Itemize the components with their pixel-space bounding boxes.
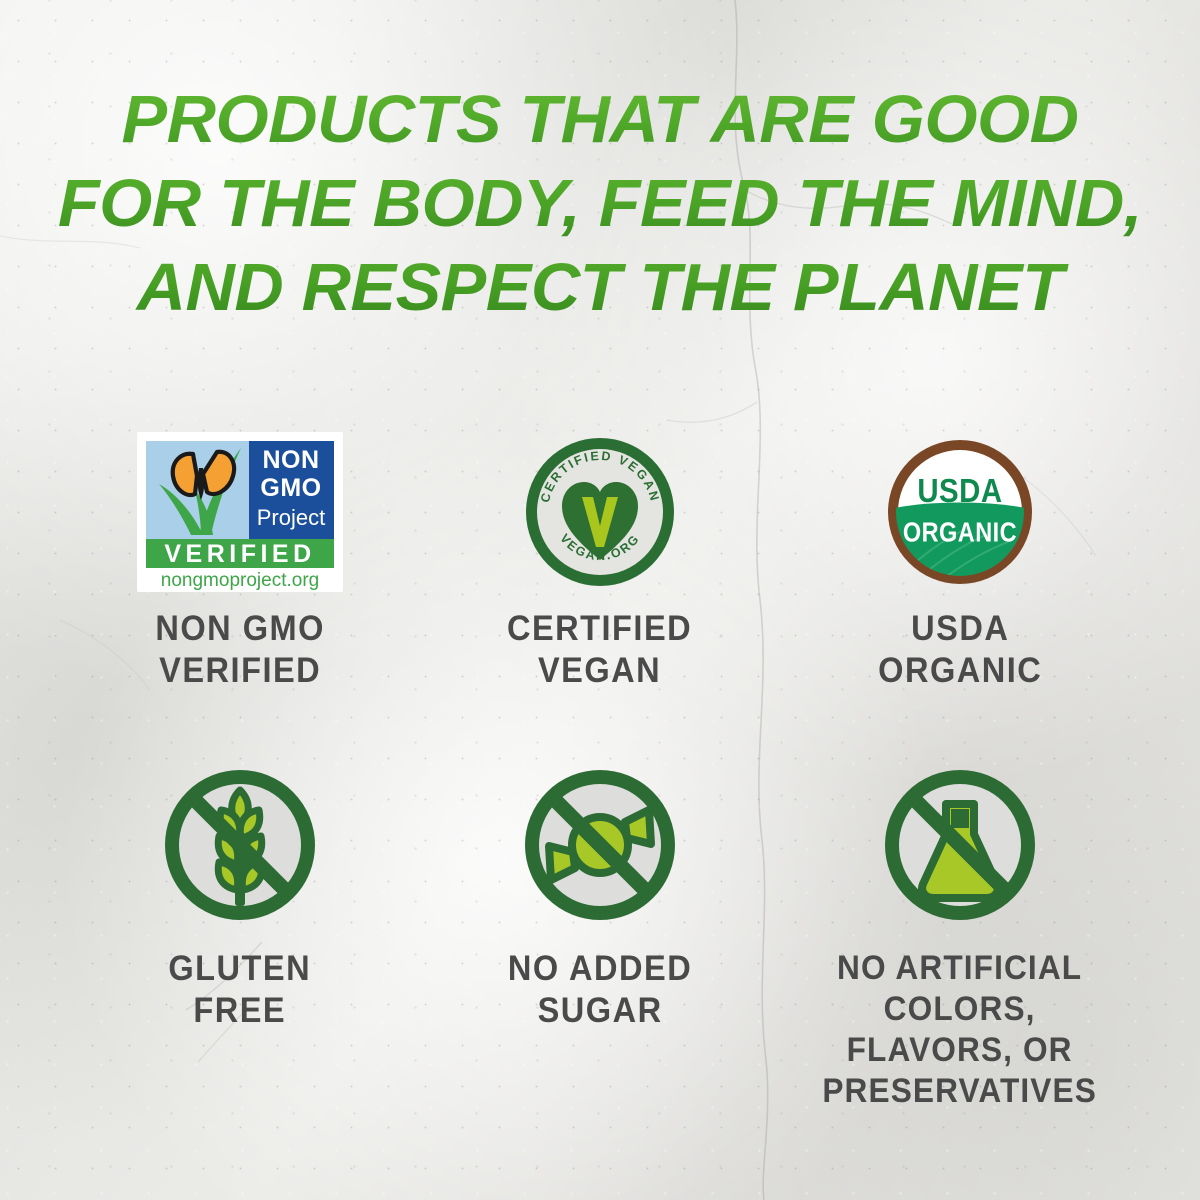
badge-non-gmo-verified: NON GMO Project VERIFIED nongmoproject.o… bbox=[60, 432, 420, 702]
svg-text:NON: NON bbox=[262, 446, 319, 474]
svg-text:ORGANIC: ORGANIC bbox=[903, 518, 1017, 548]
headline-line-1: PRODUCTS THAT ARE GOOD bbox=[0, 78, 1200, 162]
claim-caption-no-added-sugar: NO ADDED SUGAR bbox=[508, 948, 692, 1032]
badge-caption-non-gmo: NON GMO VERIFIED bbox=[155, 608, 325, 692]
badge-certified-vegan: CERTIFIED VEGAN VEGAN.ORG CERTIFIED VEGA… bbox=[420, 432, 780, 702]
certified-vegan-seal: CERTIFIED VEGAN VEGAN.ORG bbox=[522, 432, 678, 592]
svg-text:USDA: USDA bbox=[917, 471, 1002, 509]
badge-caption-certified-vegan: CERTIFIED VEGAN bbox=[507, 608, 692, 692]
usda-organic-seal: USDA ORGANIC bbox=[884, 432, 1036, 592]
no-sugar-icon bbox=[515, 760, 685, 930]
badge-caption-usda-organic: USDA ORGANIC bbox=[878, 608, 1042, 692]
claim-no-artificial: NO ARTIFICIAL COLORS, FLAVORS, OR PRESER… bbox=[780, 760, 1140, 1120]
svg-text:VERIFIED: VERIFIED bbox=[164, 540, 315, 568]
headline-line-2: FOR THE BODY, FEED THE MIND, bbox=[0, 162, 1200, 246]
badge-usda-organic: USDA ORGANIC USDA ORGANIC bbox=[780, 432, 1140, 702]
non-gmo-project-verified-logo: NON GMO Project VERIFIED nongmoproject.o… bbox=[137, 432, 343, 592]
svg-text:Project: Project bbox=[257, 505, 325, 530]
claim-icon-row-bottom: GLUTEN FREE bbox=[60, 760, 1140, 1120]
infographic-page: PRODUCTS THAT ARE GOOD FOR THE BODY, FEE… bbox=[0, 0, 1200, 1200]
svg-text:GMO: GMO bbox=[260, 474, 321, 502]
no-gluten-icon bbox=[155, 760, 325, 930]
headline-line-3: AND RESPECT THE PLANET bbox=[0, 246, 1200, 330]
svg-text:nongmoproject.org: nongmoproject.org bbox=[161, 570, 319, 591]
page-title: PRODUCTS THAT ARE GOOD FOR THE BODY, FEE… bbox=[0, 78, 1200, 330]
certification-badge-row-top: NON GMO Project VERIFIED nongmoproject.o… bbox=[60, 432, 1140, 702]
claim-gluten-free: GLUTEN FREE bbox=[60, 760, 420, 1120]
claim-caption-gluten-free: GLUTEN FREE bbox=[169, 948, 312, 1032]
claim-caption-no-artificial: NO ARTIFICIAL COLORS, FLAVORS, OR PRESER… bbox=[823, 948, 1098, 1112]
claim-no-added-sugar: NO ADDED SUGAR bbox=[420, 760, 780, 1120]
no-artificial-icon bbox=[875, 760, 1045, 930]
